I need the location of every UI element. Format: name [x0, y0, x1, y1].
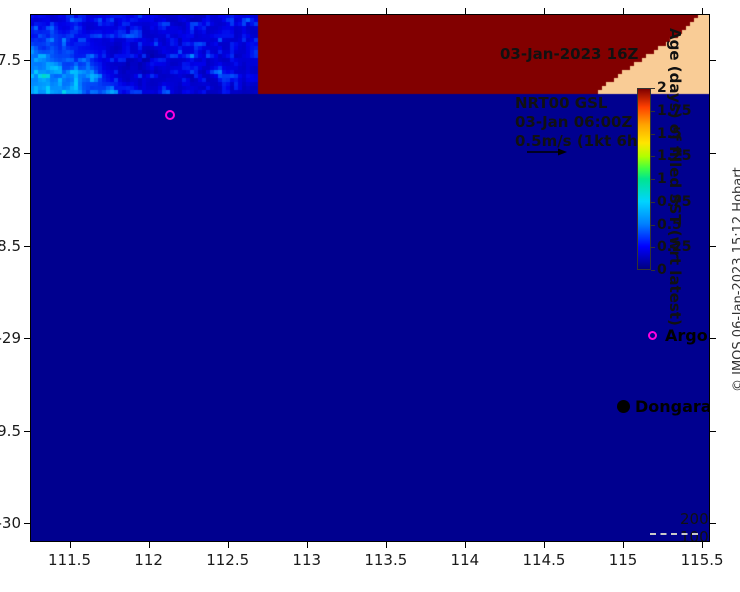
- x-tick-label: 112.5: [206, 551, 249, 569]
- x-tick-mark-top: [149, 8, 150, 14]
- x-tick-mark: [544, 542, 545, 548]
- colorbar-tick-mark: [651, 179, 655, 180]
- x-tick-mark-top: [465, 8, 466, 14]
- argo-circle-icon: [648, 331, 657, 340]
- argo-legend-entry: Argo: [648, 326, 708, 345]
- credit-label: © IMOS 06-Jan-2023 15:12 Hobart: [731, 167, 740, 392]
- y-tick-label: -28.5: [0, 237, 21, 255]
- colorbar-tick-mark: [651, 202, 655, 203]
- x-tick-label: 115: [609, 551, 638, 569]
- x-tick-mark-top: [544, 8, 545, 14]
- x-tick-label: 114.5: [522, 551, 565, 569]
- y-tick-mark: [24, 60, 30, 61]
- dongara-place-marker: Dongara: [617, 397, 710, 416]
- x-tick-mark: [307, 542, 308, 548]
- x-tick-mark-top: [228, 8, 229, 14]
- argo-legend-label: Argo: [665, 326, 708, 345]
- x-tick-mark: [465, 542, 466, 548]
- x-tick-mark: [70, 542, 71, 548]
- dongara-label: Dongara: [635, 397, 710, 416]
- x-tick-mark-top: [702, 8, 703, 14]
- x-tick-label: 113.5: [364, 551, 407, 569]
- product-info-block: NRT00 GSL 03-Jan 06:00Z 0.5m/s (1kt 6h): [515, 94, 644, 151]
- arrow-right-icon: [527, 147, 567, 157]
- colorbar-tick-mark: [651, 225, 655, 226]
- product-time-label: 03-Jan 06:00Z: [515, 113, 644, 132]
- x-tick-mark-top: [70, 8, 71, 14]
- argo-float-marker[interactable]: [165, 110, 175, 120]
- x-tick-label: 115.5: [681, 551, 724, 569]
- colorbar[interactable]: 21.751.51.2510.750.50.250: [637, 88, 651, 270]
- x-tick-mark: [623, 542, 624, 548]
- y-tick-mark-right: [710, 153, 716, 154]
- colorbar-tick-mark: [651, 88, 655, 89]
- product-name-label: NRT00 GSL: [515, 94, 644, 113]
- colorbar-tick-mark: [651, 247, 655, 248]
- y-tick-mark: [24, 338, 30, 339]
- y-tick-mark: [24, 246, 30, 247]
- timestamp-label: 03-Jan-2023 16Z: [500, 45, 638, 63]
- x-tick-mark-top: [307, 8, 308, 14]
- depth-1000m-label: 1000m: [680, 528, 710, 542]
- x-tick-mark: [228, 542, 229, 548]
- y-tick-mark-right: [710, 338, 716, 339]
- map-plot-area[interactable]: 03-Jan-2023 16Z NRT00 GSL 03-Jan 06:00Z …: [30, 14, 710, 542]
- y-tick-mark-right: [710, 246, 716, 247]
- x-tick-label: 111.5: [48, 551, 91, 569]
- x-tick-label: 112: [134, 551, 163, 569]
- depth-contour-legend: 200m 1000m: [680, 510, 710, 542]
- x-tick-mark: [149, 542, 150, 548]
- y-tick-mark: [24, 153, 30, 154]
- y-tick-mark: [24, 431, 30, 432]
- y-tick-mark-right: [710, 523, 716, 524]
- colorbar-gradient: [637, 88, 651, 270]
- x-tick-mark-top: [623, 8, 624, 14]
- x-tick-mark: [702, 542, 703, 548]
- y-tick-label: -27.5: [0, 51, 21, 69]
- y-tick-label: -30: [0, 514, 21, 532]
- y-tick-mark: [24, 523, 30, 524]
- y-tick-label: -28: [0, 144, 21, 162]
- colorbar-tick-mark: [651, 134, 655, 135]
- y-tick-mark-right: [710, 431, 716, 432]
- colorbar-tick-mark: [651, 270, 655, 271]
- city-dot-icon: [617, 400, 630, 413]
- y-tick-label: -29.5: [0, 422, 21, 440]
- colorbar-title: Age (days) of filled SST (wrt latest): [666, 28, 684, 326]
- colorbar-tick-mark: [651, 111, 655, 112]
- x-tick-label: 113: [292, 551, 321, 569]
- depth-1000m-sample-line: [650, 533, 698, 535]
- x-tick-label: 114: [451, 551, 480, 569]
- y-tick-label: -29: [0, 329, 21, 347]
- y-tick-mark-right: [710, 60, 716, 61]
- colorbar-tick-mark: [651, 156, 655, 157]
- depth-200m-label: 200m: [680, 510, 710, 528]
- x-tick-mark-top: [386, 8, 387, 14]
- x-tick-mark: [386, 542, 387, 548]
